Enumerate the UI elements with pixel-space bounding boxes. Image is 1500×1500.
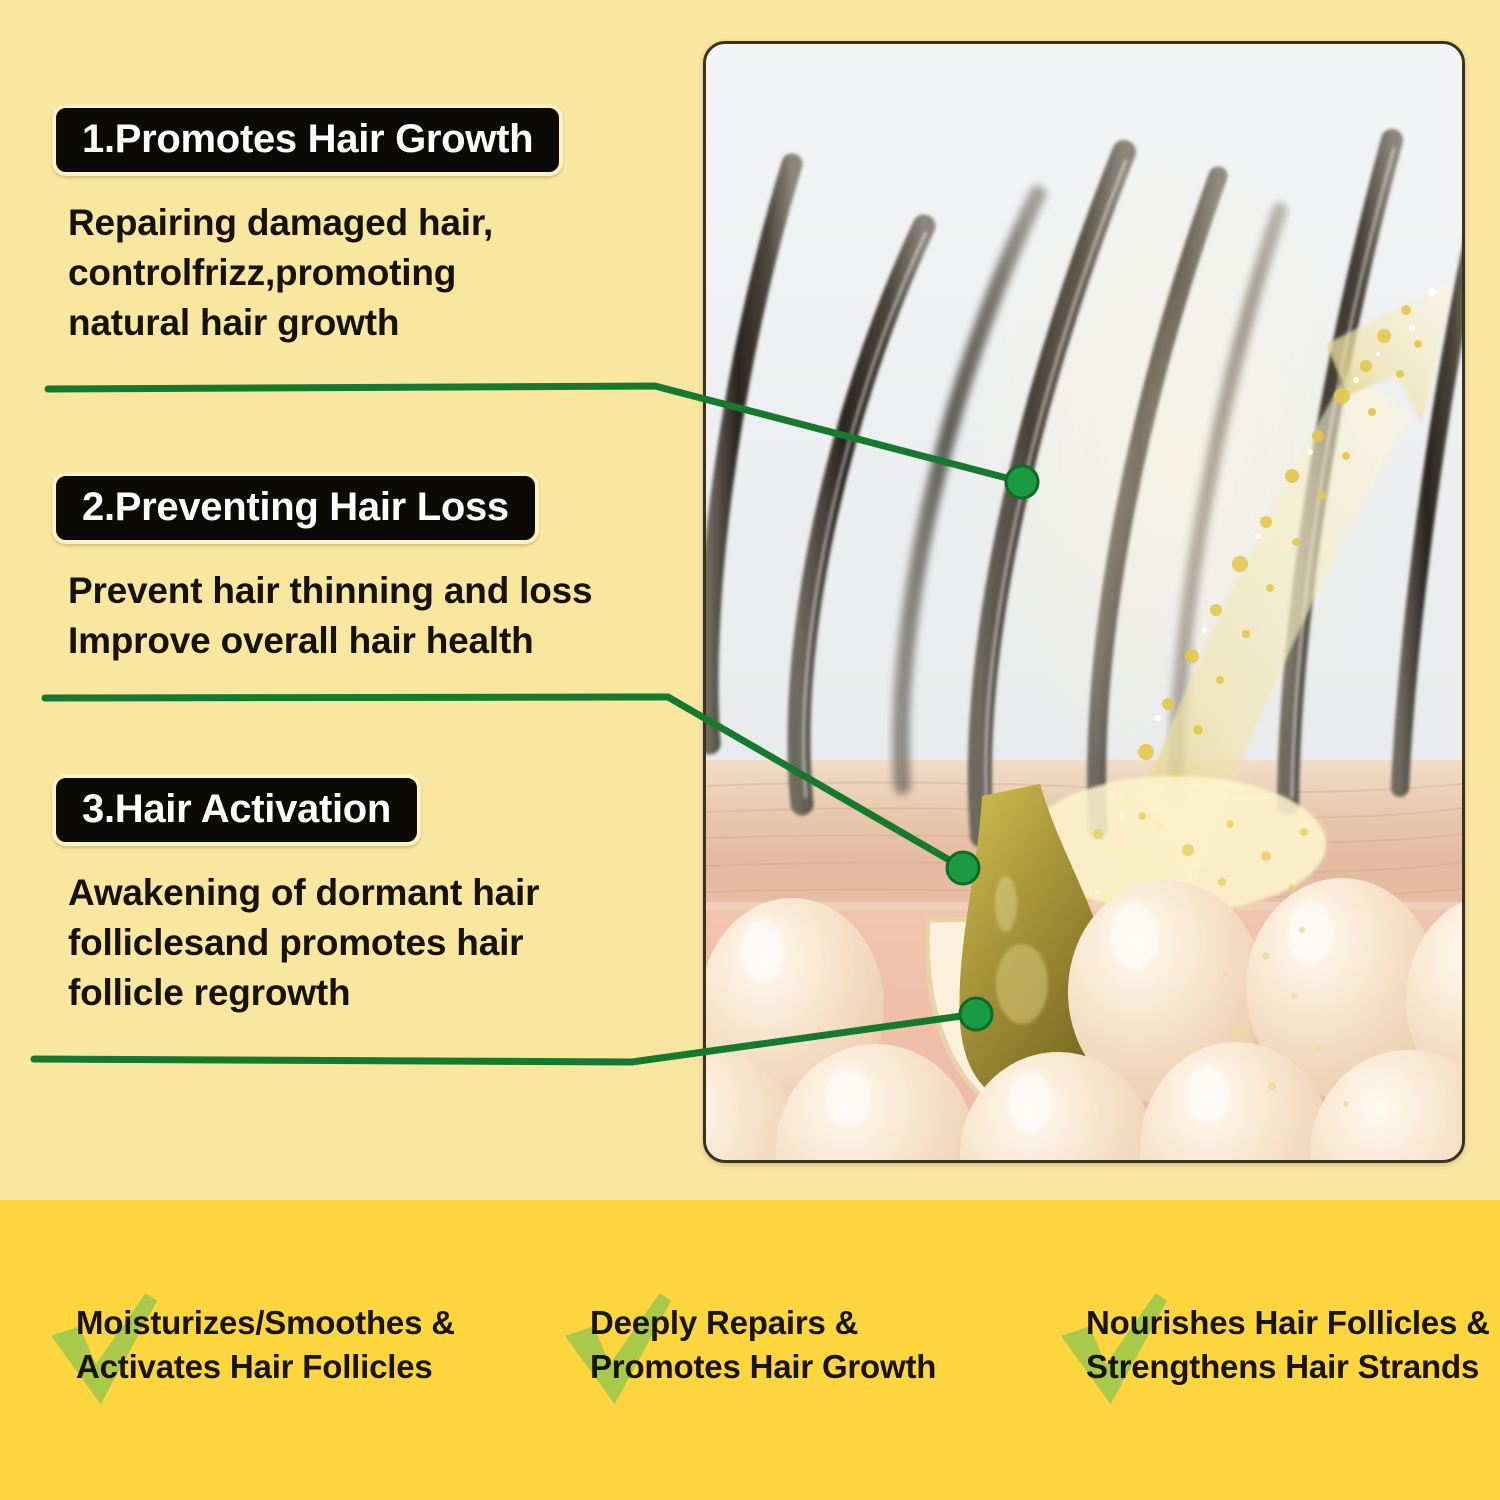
feature-block-2: 2.Preventing Hair Loss Prevent hair thin… <box>0 472 690 666</box>
feature-badge-2: 2.Preventing Hair Loss <box>52 472 539 544</box>
top-section: 1.Promotes Hair Growth Repairing damaged… <box>0 0 1500 1200</box>
feature-description-1: Repairing damaged hair, controlfrizz,pro… <box>68 198 668 348</box>
benefit-item-2: Deeply Repairs & Promotes Hair Growth <box>562 1285 992 1425</box>
feature-block-1: 1.Promotes Hair Growth Repairing damaged… <box>0 104 690 348</box>
feature-badge-1: 1.Promotes Hair Growth <box>52 104 563 176</box>
illustration-panel <box>703 41 1465 1163</box>
benefit-text-1: Moisturizes/Smoothes & Activates Hair Fo… <box>76 1285 518 1389</box>
feature-list: 1.Promotes Hair Growth Repairing damaged… <box>0 0 690 1200</box>
benefit-item-1: Moisturizes/Smoothes & Activates Hair Fo… <box>48 1285 518 1425</box>
feature-description-2: Prevent hair thinning and loss Improve o… <box>68 566 668 666</box>
benefit-text-3: Nourishes Hair Follicles & Strengthens H… <box>1086 1285 1500 1389</box>
benefit-item-3: Nourishes Hair Follicles & Strengthens H… <box>1058 1285 1500 1425</box>
benefit-text-2: Deeply Repairs & Promotes Hair Growth <box>590 1285 992 1389</box>
feature-badge-3: 3.Hair Activation <box>52 774 421 846</box>
feature-description-3: Awakening of dormant hair folliclesand p… <box>68 868 668 1018</box>
hair-follicle-illustration <box>706 44 1462 1160</box>
feature-block-3: 3.Hair Activation Awakening of dormant h… <box>0 774 690 1018</box>
